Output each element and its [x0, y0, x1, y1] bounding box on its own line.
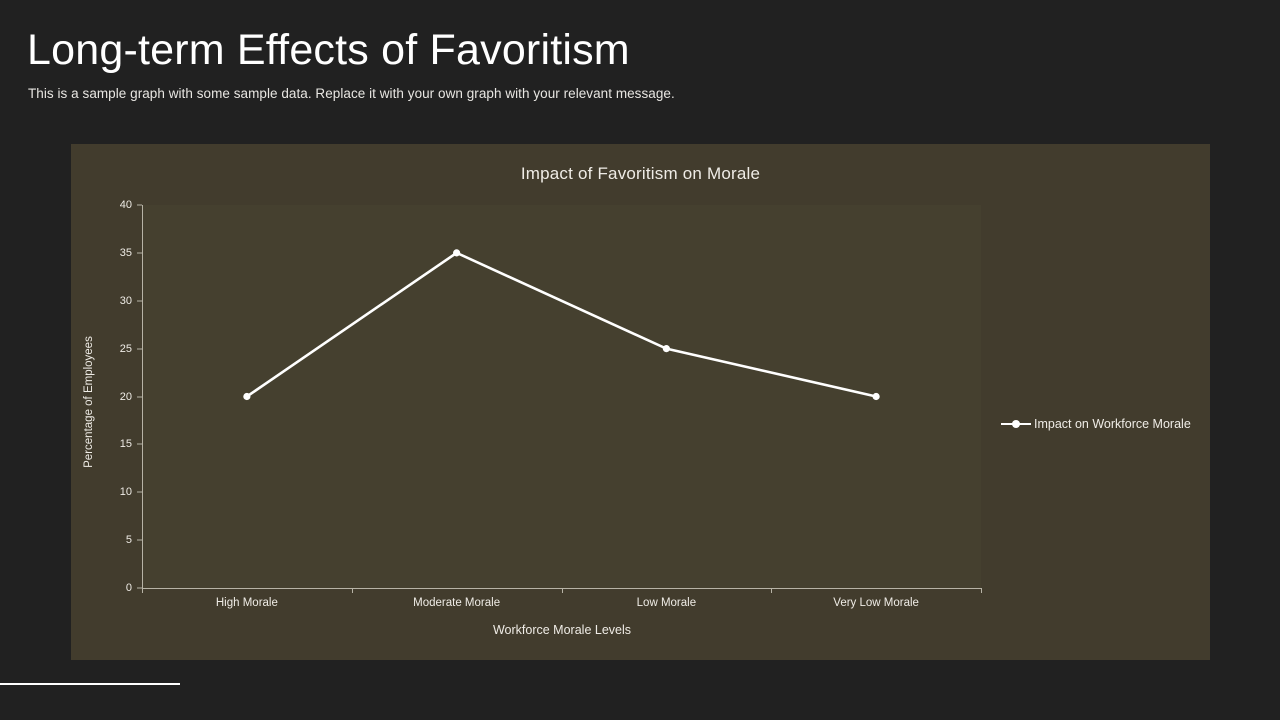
- y-tick-label: 30: [71, 295, 142, 307]
- page-title: Long-term Effects of Favoritism: [27, 27, 630, 73]
- y-tick-label: 40: [71, 199, 142, 211]
- chart-panel: Impact of Favoritism on Morale 051015202…: [71, 144, 1210, 660]
- y-tick-label: 25: [71, 343, 142, 355]
- legend-item-label: Impact on Workforce Morale: [1034, 417, 1191, 431]
- x-tick-mark: [981, 588, 982, 593]
- y-tick-label: 10: [71, 486, 142, 498]
- footer-rule: [0, 683, 180, 685]
- x-axis-title: Workforce Morale Levels: [142, 623, 982, 637]
- x-tick-label: Low Morale: [637, 597, 696, 609]
- y-tick-label: 35: [71, 247, 142, 259]
- y-tick-mark: [137, 396, 142, 397]
- x-tick-mark: [352, 588, 353, 593]
- x-tick-mark: [562, 588, 563, 593]
- x-tick-mark: [771, 588, 772, 593]
- y-tick-label: 15: [71, 438, 142, 450]
- y-tick-mark: [137, 348, 142, 349]
- y-tick-mark: [137, 492, 142, 493]
- y-axis-spine: [142, 205, 143, 589]
- y-tick-mark: [137, 205, 142, 206]
- plot-area: [142, 205, 981, 588]
- x-tick-label: Very Low Morale: [833, 597, 919, 609]
- y-tick-label: 0: [71, 582, 142, 594]
- y-tick-label: 20: [71, 391, 142, 403]
- y-tick-label: 5: [71, 534, 142, 546]
- x-tick-mark: [142, 588, 143, 593]
- y-axis-title: Percentage of Employees: [83, 322, 95, 482]
- x-tick-label: High Morale: [216, 597, 278, 609]
- y-tick-mark: [137, 540, 142, 541]
- y-tick-mark: [137, 444, 142, 445]
- x-tick-label: Moderate Morale: [413, 597, 500, 609]
- legend-marker-icon: [1001, 418, 1031, 430]
- chart-title: Impact of Favoritism on Morale: [71, 164, 1210, 184]
- chart-legend: Impact on Workforce Morale: [1001, 417, 1191, 431]
- y-tick-mark: [137, 300, 142, 301]
- page-subtitle: This is a sample graph with some sample …: [28, 86, 675, 101]
- y-tick-mark: [137, 252, 142, 253]
